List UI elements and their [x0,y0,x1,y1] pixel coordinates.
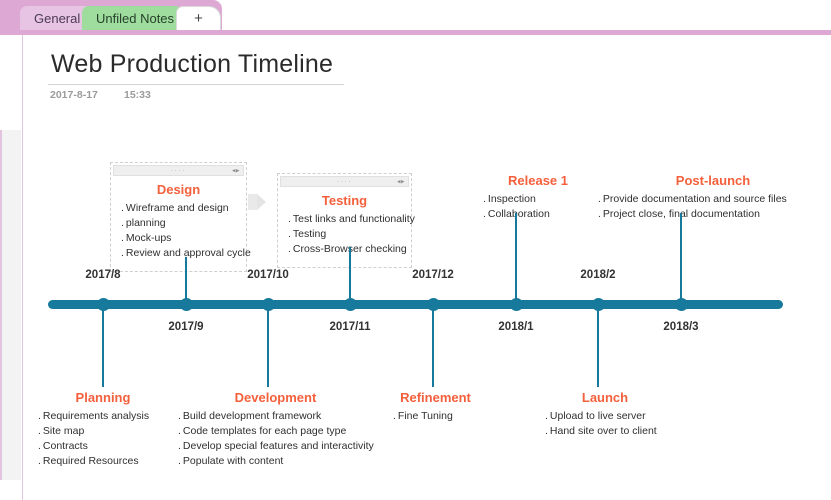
tick-label: 2018/2 [580,269,615,281]
card-item-list: .Wireframe and design .planning .Mock-up… [121,201,236,261]
list-item: .Cross-Browser checking [288,242,401,257]
list-item: .Contracts [38,439,168,454]
tick-label: 2018/3 [663,321,698,333]
page-title[interactable]: Web Production Timeline [51,50,333,79]
stem-post-launch [680,213,682,299]
tick-label: 2017/8 [85,269,120,281]
phase-block-launch[interactable]: Launch .Upload to live server .Hand site… [545,390,665,439]
card-heading-testing: Testing [288,193,401,208]
list-item: .Fine Tuning [393,409,478,424]
stem-release-1 [515,213,517,299]
timeline-dot[interactable] [675,298,688,311]
resize-arrows-icon[interactable]: ◂▸ [232,167,240,174]
note-card-testing[interactable]: ···· ◂▸ Testing .Test links and function… [277,173,412,268]
list-item: .Collaboration [483,207,593,222]
list-item: .Requirements analysis [38,409,168,424]
stem-planning [102,309,104,387]
phase-item-list: .Build development framework .Code templ… [178,409,373,469]
list-item: .Testing [288,227,401,242]
timeline-dot[interactable] [180,298,193,311]
phase-block-development[interactable]: Development .Build development framework… [178,390,373,469]
stem-testing [349,247,351,299]
list-item: .Inspection [483,192,593,207]
list-item: .Site map [38,424,168,439]
card-heading-design: Design [121,182,236,197]
list-item: .Provide documentation and source files [598,192,828,207]
list-item: .Develop special features and interactiv… [178,439,373,454]
note-card-design[interactable]: ···· ◂▸ Design .Wireframe and design .pl… [110,162,247,272]
tick-label: 2018/1 [498,321,533,333]
stem-refinement [432,309,434,387]
phase-block-planning[interactable]: Planning .Requirements analysis .Site ma… [38,390,168,469]
list-item: .Mock-ups [121,231,236,246]
page-date: 2017-8-17 [50,89,98,101]
note-card-title-bar[interactable]: ···· ◂▸ [280,176,409,187]
page-time: 15:33 [124,89,151,101]
drag-dots-icon: ···· [337,178,352,185]
page-left-border [22,35,23,500]
card-drag-handle-icon[interactable] [257,194,266,210]
stem-design [185,257,187,299]
list-item: .Project close, final documentation [598,207,828,222]
phase-heading: Planning [38,390,168,405]
note-card-body: Design .Wireframe and design .planning .… [113,176,244,269]
list-item: .Hand site over to client [545,424,665,439]
phase-heading: Post-launch [598,173,828,188]
tick-label: 2017/9 [168,321,203,333]
note-app-window: General Unfiled Notes + Web Production T… [0,0,831,500]
tab-general-label: General [34,11,80,26]
note-canvas[interactable]: Web Production Timeline 2017-8-17 15:33 … [0,35,831,500]
list-item: .planning [121,216,236,231]
tab-unfiled-notes[interactable]: Unfiled Notes [82,6,188,30]
list-item: .Wireframe and design [121,201,236,216]
phase-item-list: .Provide documentation and source files … [598,192,828,222]
list-item: .Code templates for each page type [178,424,373,439]
note-card-title-bar[interactable]: ···· ◂▸ [113,165,244,176]
phase-item-list: .Upload to live server .Hand site over t… [545,409,665,439]
phase-item-list: .Inspection .Collaboration [483,192,593,222]
phase-heading: Development [178,390,373,405]
note-card-body: Testing .Test links and functionality .T… [280,187,409,265]
plus-icon: + [194,10,203,27]
phase-heading: Release 1 [483,173,593,188]
list-item: .Review and approval cycle [121,246,236,261]
title-divider [48,84,344,85]
tick-label: 2017/11 [330,321,371,333]
phase-block-release-1[interactable]: Release 1 .Inspection .Collaboration [483,173,593,222]
phase-heading: Refinement [393,390,478,405]
list-item: .Upload to live server [545,409,665,424]
list-item: .Required Resources [38,454,168,469]
timeline-axis [48,300,783,309]
stem-launch [597,309,599,387]
timeline-dot[interactable] [510,298,523,311]
phase-item-list: .Requirements analysis .Site map .Contra… [38,409,168,469]
phase-block-refinement[interactable]: Refinement .Fine Tuning [393,390,478,424]
tick-label: 2017/10 [247,269,289,281]
phase-block-post-launch[interactable]: Post-launch .Provide documentation and s… [598,173,828,222]
drag-dots-icon: ···· [171,167,186,174]
timeline-dot[interactable] [344,298,357,311]
add-tab-button[interactable]: + [176,6,221,30]
tab-unfiled-notes-label: Unfiled Notes [96,11,174,26]
list-item: .Build development framework [178,409,373,424]
stem-development [267,309,269,387]
vertical-scrollbar-track[interactable] [0,130,21,480]
tab-bar: General Unfiled Notes + [0,0,831,30]
tick-label: 2017/12 [412,269,454,281]
card-item-list: .Test links and functionality .Testing .… [288,212,401,257]
phase-heading: Launch [545,390,665,405]
list-item: .Test links and functionality [288,212,401,227]
phase-item-list: .Fine Tuning [393,409,478,424]
resize-arrows-icon[interactable]: ◂▸ [397,178,405,185]
list-item: .Populate with content [178,454,373,469]
